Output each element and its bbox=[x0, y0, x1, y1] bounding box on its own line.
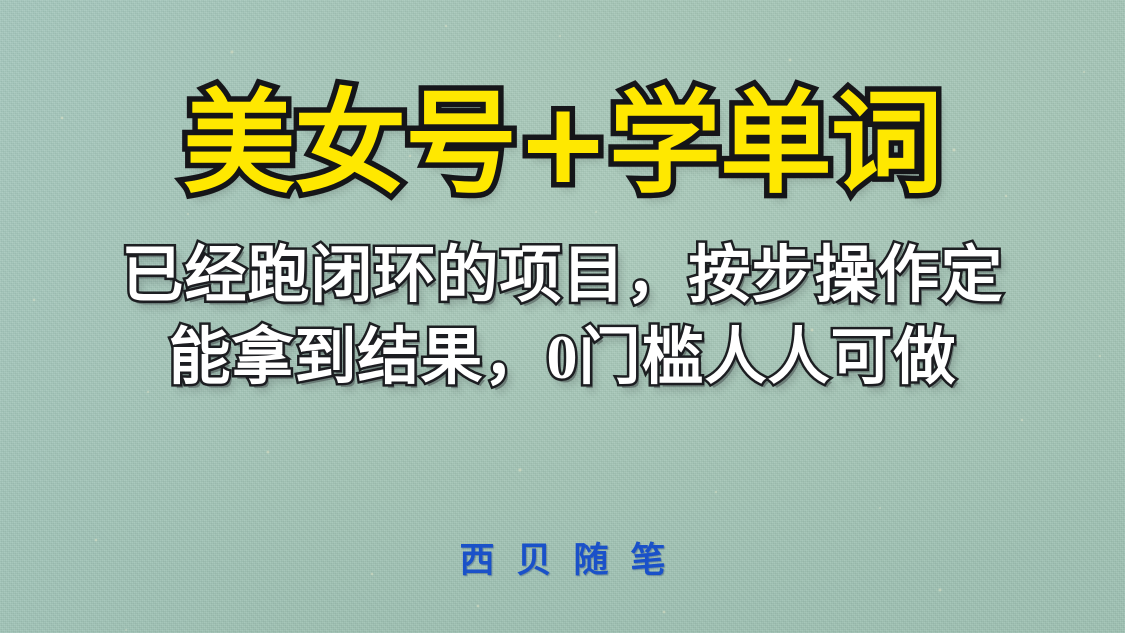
headline-title: 美女号+学单词 bbox=[183, 88, 942, 200]
subtitle-line-1: 已经跑闭环的项目，按步操作定 bbox=[121, 236, 1003, 318]
subtitle-line-2: 能拿到结果，0门槛人人可做 bbox=[121, 318, 1003, 400]
poster-content: 美女号+学单词 已经跑闭环的项目，按步操作定 能拿到结果，0门槛人人可做 西贝随… bbox=[0, 0, 1125, 633]
author-signature: 西贝随笔 bbox=[0, 532, 1125, 583]
poster-canvas: 美女号+学单词 已经跑闭环的项目，按步操作定 能拿到结果，0门槛人人可做 西贝随… bbox=[0, 0, 1125, 633]
subtitle-block: 已经跑闭环的项目，按步操作定 能拿到结果，0门槛人人可做 bbox=[121, 236, 1003, 400]
